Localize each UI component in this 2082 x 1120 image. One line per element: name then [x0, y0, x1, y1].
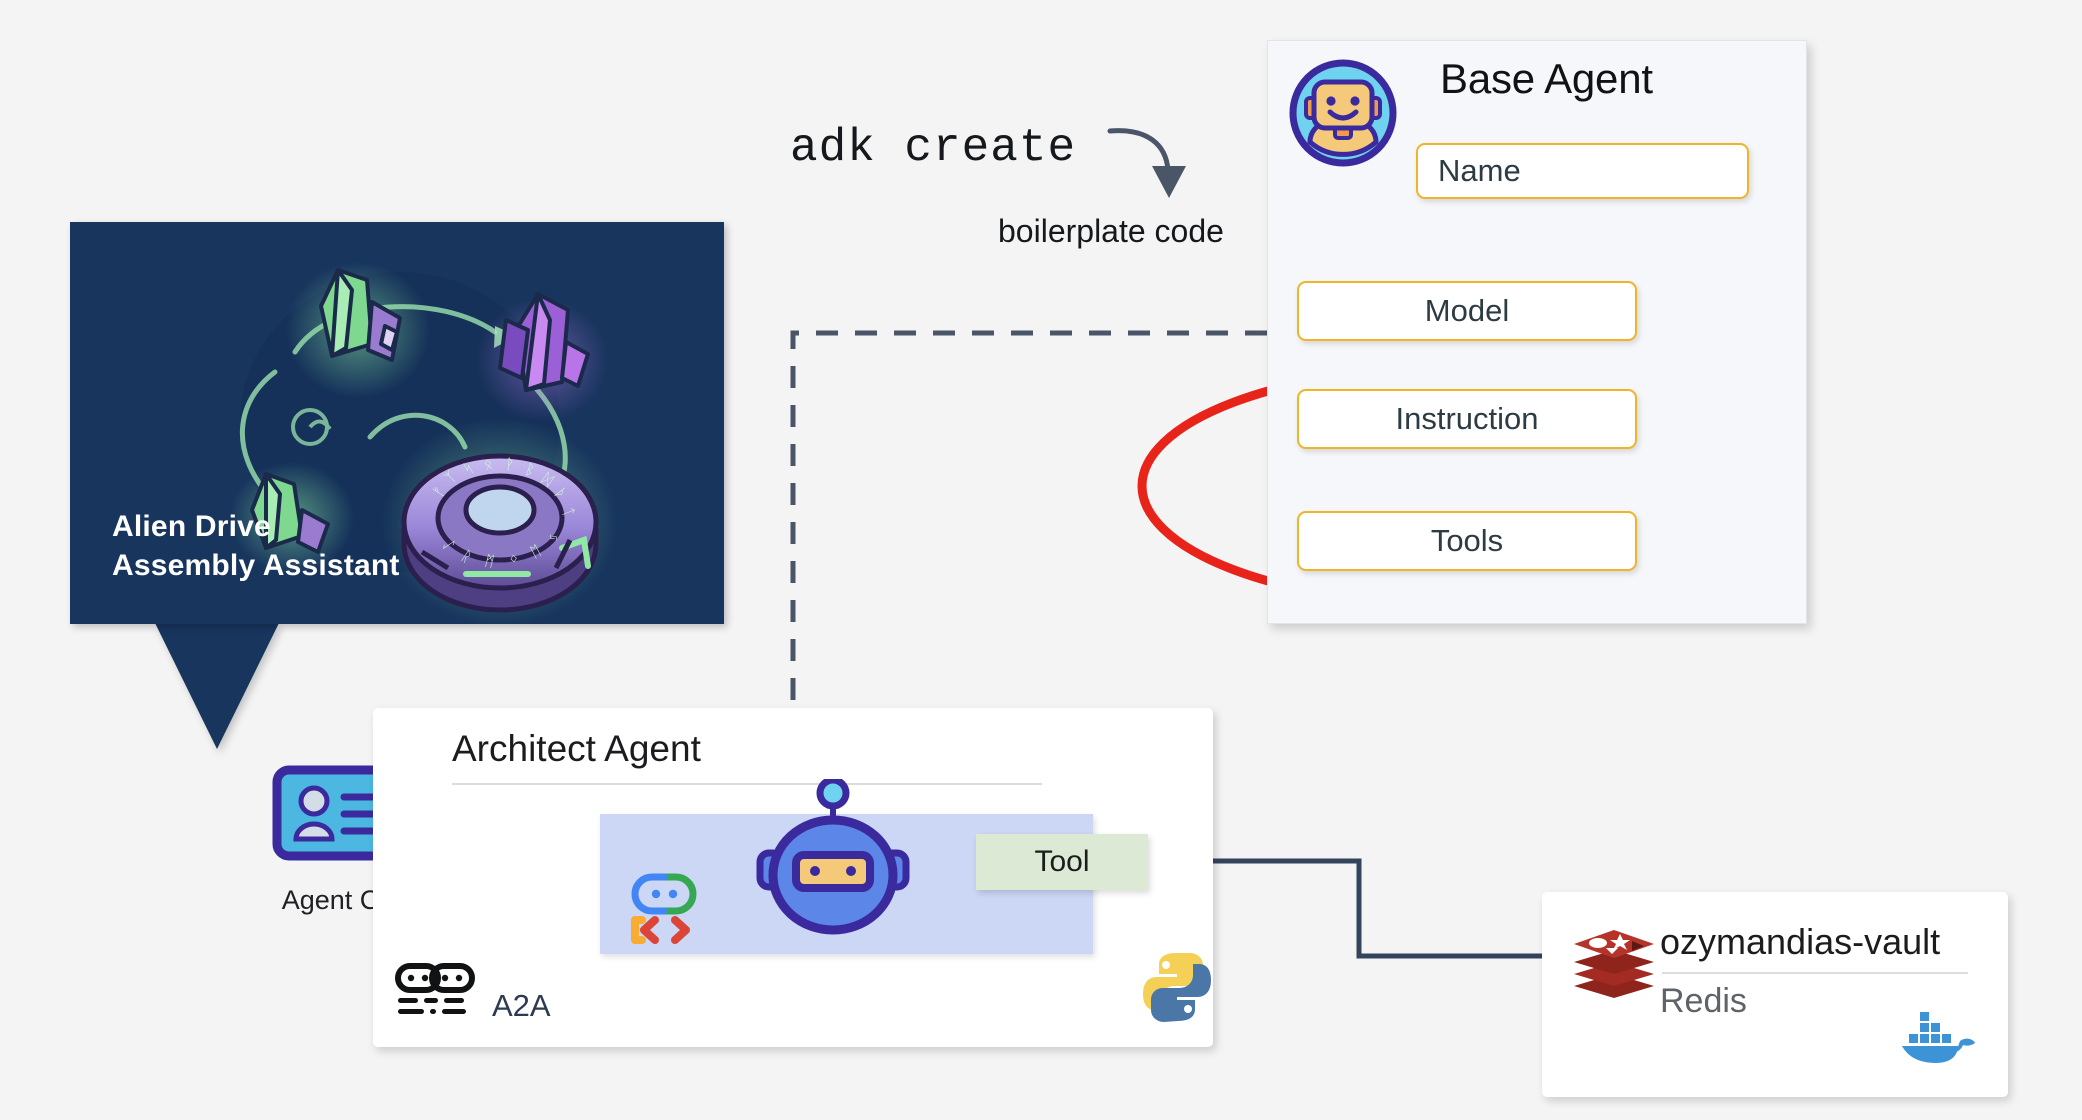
- redis-service-subtitle: Redis: [1660, 982, 1747, 1021]
- boilerplate-caption: boilerplate code: [998, 213, 1224, 250]
- redis-service-title: ozymandias-vault: [1660, 921, 1940, 963]
- speech-bubble-tail: [155, 623, 279, 749]
- title-divider: [452, 783, 1042, 785]
- diagram-canvas: ᚠ ᛉ ᛋ ᛟ ᚹ ᛒ ᛞ ᚦ ᛏ ᛇ ᚱ ᛗ ᛜ ᛖ ᛃ: [0, 0, 2082, 1120]
- adk-create-command: adk create: [790, 122, 1076, 174]
- redis-logo-icon: [1570, 928, 1658, 1000]
- svg-text:ᚹ: ᚹ: [505, 455, 515, 474]
- architect-agent-title: Architect Agent: [452, 728, 701, 770]
- tools-field[interactable]: Tools: [1297, 511, 1637, 571]
- adk-logo-icon: [625, 872, 703, 946]
- speech-bubble: ᚠ ᛉ ᛋ ᛟ ᚹ ᛒ ᛞ ᚦ ᛏ ᛇ ᚱ ᛗ ᛜ ᛖ ᛃ: [70, 222, 724, 624]
- tool-label-box[interactable]: Tool: [976, 834, 1148, 890]
- name-field[interactable]: Name: [1416, 143, 1749, 199]
- page-title: Base Agent: [1440, 55, 1653, 103]
- docker-whale-icon: [1900, 1010, 1978, 1064]
- blue-robot-icon: [752, 779, 914, 939]
- dashed-connector-line: [793, 333, 1267, 712]
- a2a-label: A2A: [492, 988, 551, 1024]
- redis-title-divider: [1662, 972, 1968, 974]
- a2a-logo-icon: [394, 962, 476, 1018]
- python-logo-icon: [1140, 950, 1214, 1024]
- curved-arrow-down: [1110, 131, 1186, 198]
- instruction-field[interactable]: Instruction: [1297, 389, 1637, 449]
- bubble-title: Alien Drive Assembly Assistant: [112, 507, 400, 586]
- model-field[interactable]: Model: [1297, 281, 1637, 341]
- robot-avatar-icon: [1288, 58, 1398, 168]
